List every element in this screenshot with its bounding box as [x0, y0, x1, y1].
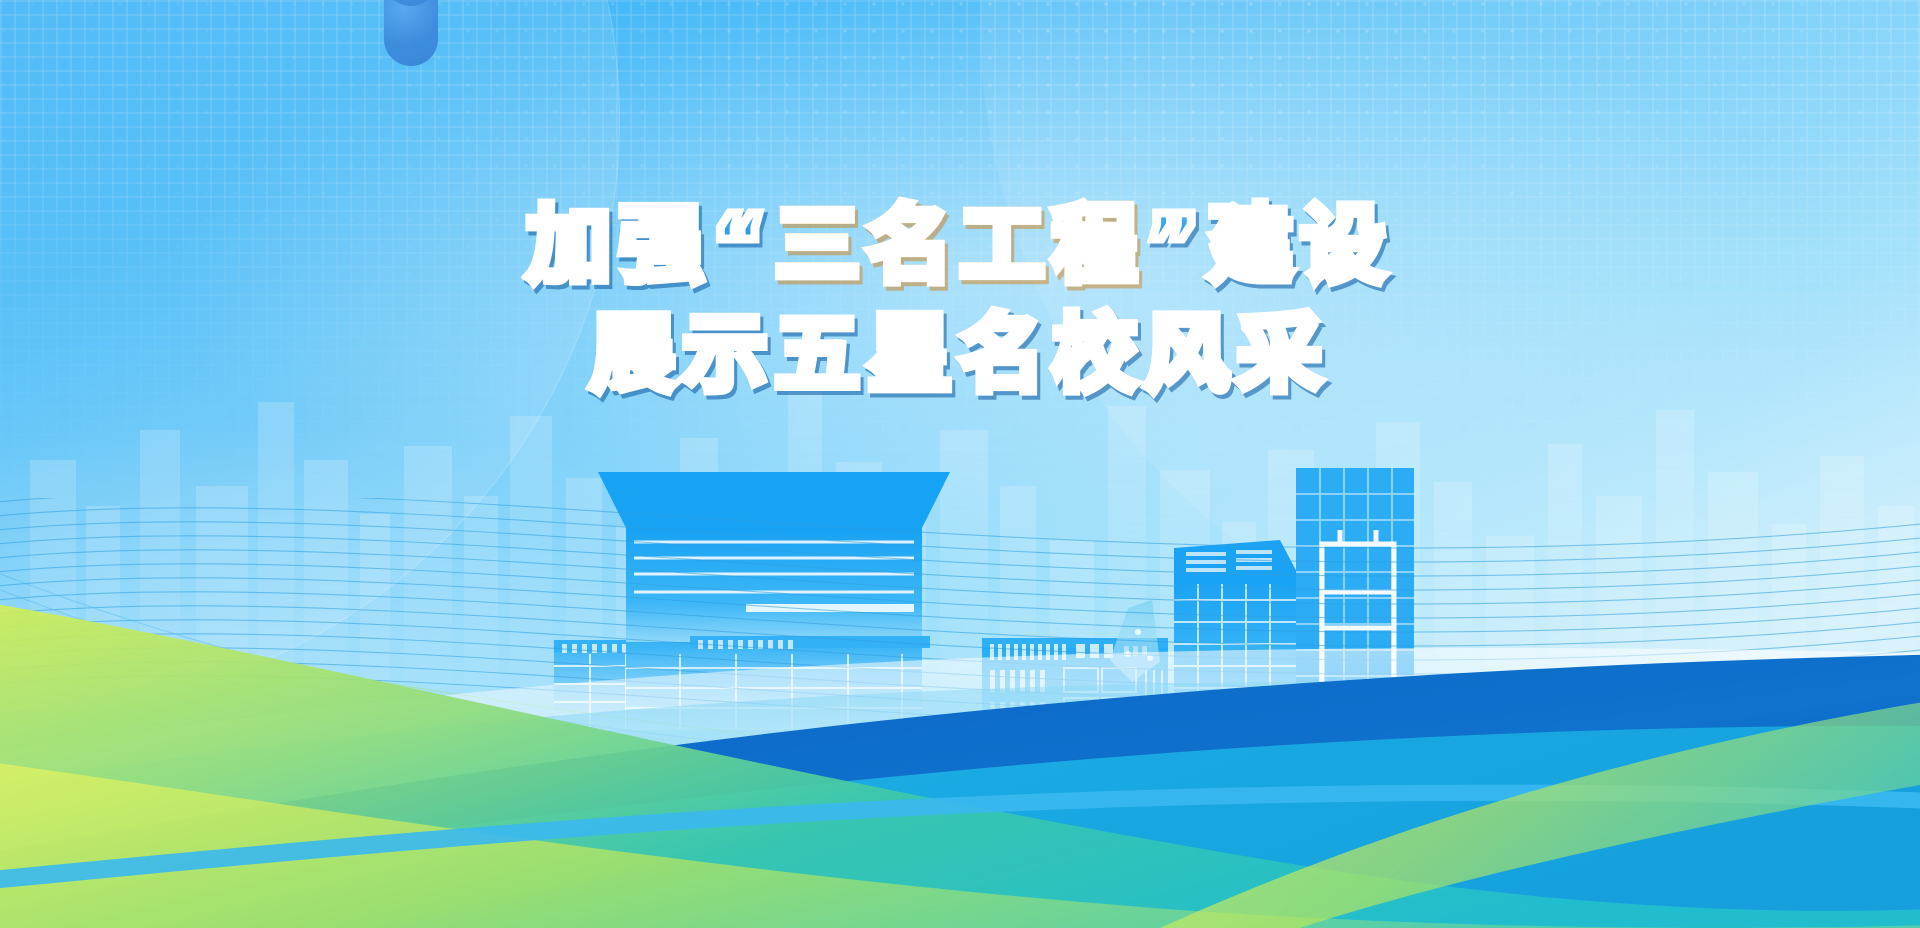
circle-arc-right: [980, 0, 1920, 680]
wave-green: [0, 598, 1920, 928]
wave-accent-arc: [0, 785, 1920, 892]
title-line-1-part-b: 三名工程: [775, 196, 1145, 295]
building-center-hall: [598, 472, 950, 730]
wave-mid: [0, 681, 1920, 928]
building-right-block: [982, 638, 1168, 730]
tree-icon: [1110, 600, 1160, 682]
circle-arc-left: [0, 0, 620, 710]
wave-lime: [0, 758, 1920, 928]
dot-grid-texture-secondary: [0, 0, 1920, 470]
wave-green-right: [1160, 696, 1920, 928]
school-building: [0, 432, 1920, 732]
banner-root: 加强“三名工程”建设 展示五星名校风采: [0, 0, 1920, 928]
building-right-tall: [1174, 540, 1300, 730]
title-line-1-part-c: ”建设: [1145, 196, 1393, 295]
title-block: 加强“三名工程”建设 展示五星名校风采: [0, 196, 1920, 404]
accent-ball-icon: [384, 0, 438, 66]
title-line-1-part-a: 加强“: [527, 196, 775, 295]
background-glow: [0, 0, 1920, 928]
title-line-2: 展示五星名校风采: [0, 305, 1920, 404]
title-line-2-text: 展示五星名校风采: [590, 305, 1329, 404]
building-grid-tower: [1296, 468, 1414, 730]
building-left-wing: [554, 640, 780, 730]
line-ribbons: [0, 498, 1920, 928]
city-skyline: [0, 310, 1920, 710]
wave-ribbons: [0, 458, 1920, 928]
wave-pale: [0, 648, 1920, 928]
wave-cyan: [0, 726, 1920, 928]
wave-deep-blue: [0, 654, 1920, 928]
title-line-1: 加强“三名工程”建设: [0, 196, 1920, 295]
dot-grid-texture: [0, 0, 1920, 520]
